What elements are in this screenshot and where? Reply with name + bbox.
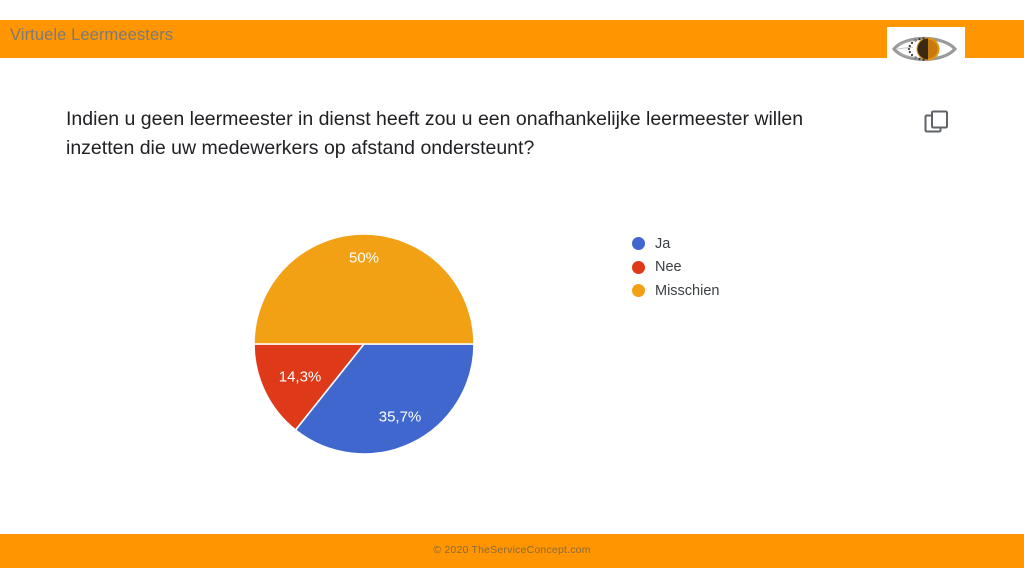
slice-label-ja: 35,7% bbox=[379, 409, 422, 426]
pie-slice[interactable] bbox=[295, 344, 474, 454]
page-title: Virtuele Leermeesters bbox=[10, 26, 173, 45]
pie-chart: 35,7% 14,3% 50% bbox=[0, 0, 1024, 576]
chart-legend: Ja Nee Misschien bbox=[632, 232, 812, 303]
question-title: Indien u geen leermeester in dienst heef… bbox=[66, 105, 856, 163]
copy-duplicate-icon[interactable] bbox=[922, 108, 952, 138]
legend-item-label: Misschien bbox=[655, 283, 719, 299]
legend-item-misschien[interactable]: Misschien bbox=[632, 279, 812, 303]
slice-label-misschien: 50% bbox=[349, 250, 379, 267]
legend-swatch-icon bbox=[632, 261, 645, 274]
eye-logo-icon bbox=[887, 27, 965, 71]
legend-swatch-icon bbox=[632, 237, 645, 250]
pie-svg-container bbox=[253, 233, 475, 455]
copyright-text: © 2020 TheServiceConcept.com bbox=[0, 544, 1024, 556]
pie-slice[interactable] bbox=[254, 234, 474, 344]
legend-item-label: Nee bbox=[655, 259, 682, 275]
slice-label-nee: 14,3% bbox=[279, 369, 322, 386]
legend-item-ja[interactable]: Ja bbox=[632, 232, 812, 256]
legend-item-nee[interactable]: Nee bbox=[632, 256, 812, 280]
legend-swatch-icon bbox=[632, 284, 645, 297]
legend-item-label: Ja bbox=[655, 236, 670, 252]
pie-slice[interactable] bbox=[254, 344, 364, 430]
